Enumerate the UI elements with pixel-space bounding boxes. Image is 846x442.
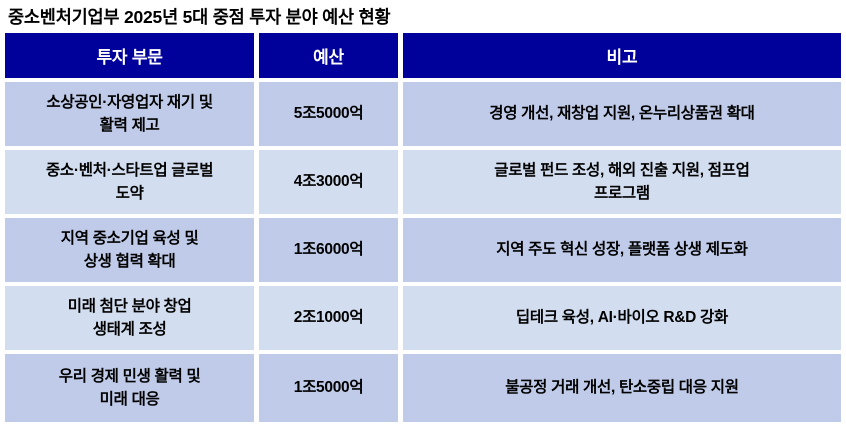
- table-row: 소상공인·자영업자 재기 및 활력 제고 5조5000억 경영 개선, 재창업 …: [5, 82, 841, 150]
- cell-sector: 미래 첨단 분야 창업 생태계 조성: [5, 286, 259, 354]
- cell-budget-text: 1조5000억: [259, 376, 398, 399]
- cell-budget: 5조5000억: [259, 82, 403, 150]
- cell-sector-text: 미래 첨단 분야 창업 생태계 조성: [5, 295, 254, 342]
- column-header-remarks: 비고: [403, 33, 841, 82]
- cell-remarks-text: 지역 주도 혁신 성장, 플랫폼 상생 제도화: [403, 238, 841, 261]
- budget-table: 투자 부문 예산 비고 소상공인·자영업자 재기 및 활력 제고 5조5000억…: [5, 33, 841, 422]
- page-title: 중소벤처기업부 2025년 5대 중점 투자 분야 예산 현황: [8, 4, 390, 29]
- table-row: 중소·벤처·스타트업 글로벌 도약 4조3000억 글로벌 펀드 조성, 해외 …: [5, 150, 841, 218]
- cell-sector-text: 우리 경제 민생 활력 및 미래 대응: [5, 365, 254, 412]
- cell-sector: 지역 중소기업 육성 및 상생 협력 확대: [5, 218, 259, 286]
- cell-budget-text: 2조1000억: [259, 306, 398, 329]
- cell-budget: 1조5000억: [259, 354, 403, 422]
- cell-remarks: 지역 주도 혁신 성장, 플랫폼 상생 제도화: [403, 218, 841, 286]
- cell-sector: 중소·벤처·스타트업 글로벌 도약: [5, 150, 259, 218]
- cell-sector-text: 지역 중소기업 육성 및 상생 협력 확대: [5, 227, 254, 274]
- table-header: 투자 부문 예산 비고: [5, 33, 841, 82]
- cell-remarks-text: 글로벌 펀드 조성, 해외 진출 지원, 점프업 프로그램: [403, 159, 841, 206]
- table-row: 미래 첨단 분야 창업 생태계 조성 2조1000억 딥테크 육성, AI·바이…: [5, 286, 841, 354]
- cell-budget-text: 1조6000억: [259, 238, 398, 261]
- cell-budget-text: 4조3000억: [259, 170, 398, 193]
- column-header-budget: 예산: [259, 33, 403, 82]
- cell-budget: 4조3000억: [259, 150, 403, 218]
- table-row: 지역 중소기업 육성 및 상생 협력 확대 1조6000억 지역 주도 혁신 성…: [5, 218, 841, 286]
- cell-budget: 2조1000억: [259, 286, 403, 354]
- cell-remarks: 글로벌 펀드 조성, 해외 진출 지원, 점프업 프로그램: [403, 150, 841, 218]
- cell-sector-text: 중소·벤처·스타트업 글로벌 도약: [5, 159, 254, 206]
- table-row: 우리 경제 민생 활력 및 미래 대응 1조5000억 불공정 거래 개선, 탄…: [5, 354, 841, 422]
- table-body: 소상공인·자영업자 재기 및 활력 제고 5조5000억 경영 개선, 재창업 …: [5, 82, 841, 422]
- cell-sector-text: 소상공인·자영업자 재기 및 활력 제고: [5, 91, 254, 138]
- cell-remarks-text: 불공정 거래 개선, 탄소중립 대응 지원: [403, 376, 841, 399]
- cell-sector: 우리 경제 민생 활력 및 미래 대응: [5, 354, 259, 422]
- cell-budget-text: 5조5000억: [259, 102, 398, 125]
- header-row: 투자 부문 예산 비고: [5, 33, 841, 82]
- cell-remarks-text: 딥테크 육성, AI·바이오 R&D 강화: [403, 306, 841, 329]
- cell-remarks: 딥테크 육성, AI·바이오 R&D 강화: [403, 286, 841, 354]
- cell-remarks: 불공정 거래 개선, 탄소중립 대응 지원: [403, 354, 841, 422]
- cell-budget: 1조6000억: [259, 218, 403, 286]
- column-header-sector: 투자 부문: [5, 33, 259, 82]
- cell-remarks-text: 경영 개선, 재창업 지원, 온누리상품권 확대: [403, 102, 841, 125]
- cell-sector: 소상공인·자영업자 재기 및 활력 제고: [5, 82, 259, 150]
- cell-remarks: 경영 개선, 재창업 지원, 온누리상품권 확대: [403, 82, 841, 150]
- budget-table-page: 중소벤처기업부 2025년 5대 중점 투자 분야 예산 현황 투자 부문 예산…: [0, 0, 846, 442]
